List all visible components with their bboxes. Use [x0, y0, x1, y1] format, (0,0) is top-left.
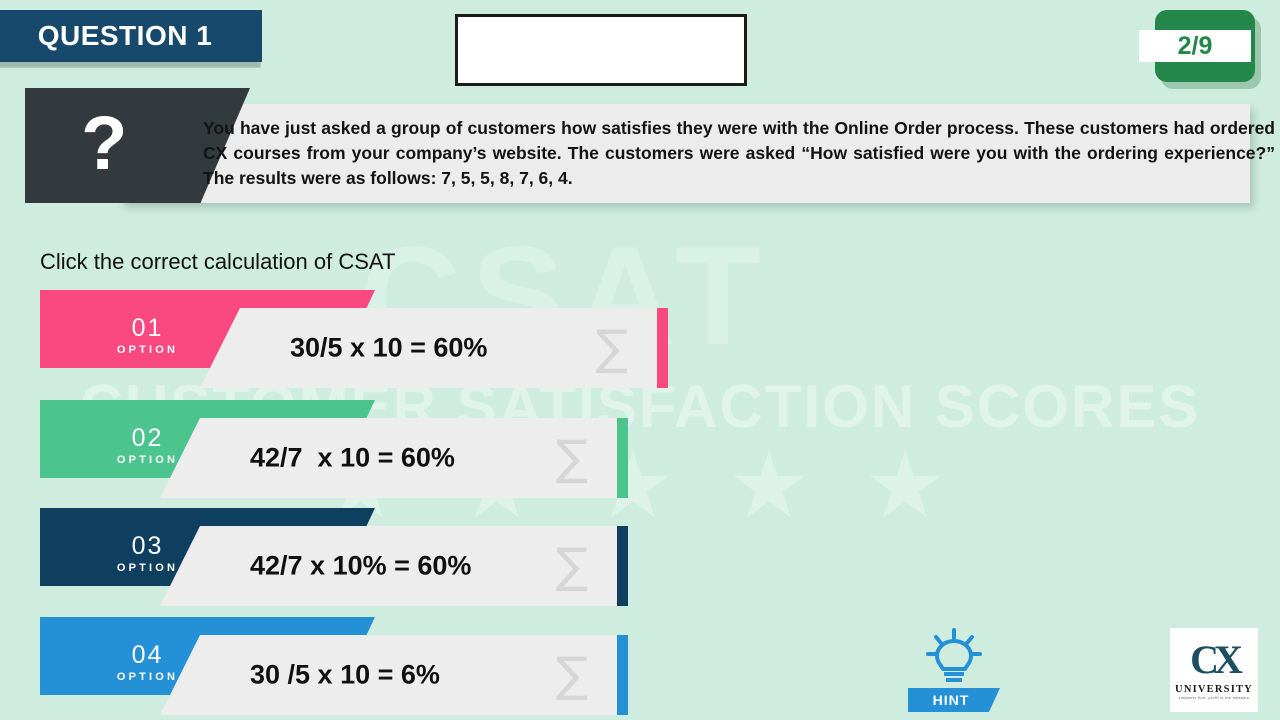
hint-banner[interactable]: HINT: [908, 688, 1000, 712]
answer-option-3[interactable]: 03 OPTION 42/7 x 10% = 60% ∑: [40, 508, 635, 606]
option-2-answer: 42/7 x 10 = 60%: [250, 443, 455, 474]
lightbulb-icon: [924, 628, 984, 686]
sigma-icon: ∑: [556, 434, 588, 482]
question-mark-glyph: ?: [81, 106, 127, 182]
page-counter: 2/9: [1155, 10, 1255, 82]
option-1-answer: 30/5 x 10 = 60%: [290, 333, 487, 364]
option-3-answer: 42/7 x 10% = 60%: [250, 551, 471, 582]
sigma-icon: ∑: [556, 651, 588, 699]
hint-label: HINT: [933, 692, 970, 708]
question-banner-frame: [455, 14, 747, 86]
hint-button[interactable]: HINT: [908, 628, 1000, 712]
logo-monogram: CX: [1190, 640, 1238, 680]
cx-university-logo: CX UNIVERSITY customer first, profit is …: [1170, 628, 1258, 712]
option-1-panel[interactable]: 30/5 x 10 = 60% ∑: [200, 308, 662, 388]
logo-tagline: customer first, profit is the measure: [1179, 696, 1250, 700]
option-2-edge: [617, 418, 628, 498]
option-4-edge: [617, 635, 628, 715]
logo-wordmark: UNIVERSITY: [1175, 684, 1253, 695]
answer-option-2[interactable]: 02 OPTION 42/7 x 10 = 60% ∑: [40, 400, 635, 498]
answer-option-4[interactable]: 04 OPTION 30 /5 x 10 = 6% ∑: [40, 617, 635, 715]
option-4-answer: 30 /5 x 10 = 6%: [250, 660, 440, 691]
option-1-number: 01: [40, 314, 255, 343]
option-4-panel[interactable]: 30 /5 x 10 = 6% ∑: [160, 635, 622, 715]
page-counter-value: 2/9: [1178, 32, 1213, 61]
option-3-panel[interactable]: 42/7 x 10% = 60% ∑: [160, 526, 622, 606]
option-3-edge: [617, 526, 628, 606]
answer-option-1[interactable]: 01 OPTION 30/5 x 10 = 60% ∑: [40, 290, 635, 388]
sigma-icon: ∑: [556, 542, 588, 590]
question-banner: QUESTION 1: [0, 10, 262, 62]
instruction-text: Click the correct calculation of CSAT: [40, 249, 395, 275]
question-prompt-card: ? You have just asked a group of custome…: [25, 88, 1250, 203]
question-banner-label: QUESTION 1: [30, 20, 213, 52]
sigma-icon: ∑: [596, 324, 628, 372]
question-prompt-text: You have just asked a group of customers…: [203, 116, 1275, 191]
option-1-edge: [657, 308, 668, 388]
option-2-panel[interactable]: 42/7 x 10 = 60% ∑: [160, 418, 622, 498]
page-counter-band: 2/9: [1139, 30, 1251, 62]
